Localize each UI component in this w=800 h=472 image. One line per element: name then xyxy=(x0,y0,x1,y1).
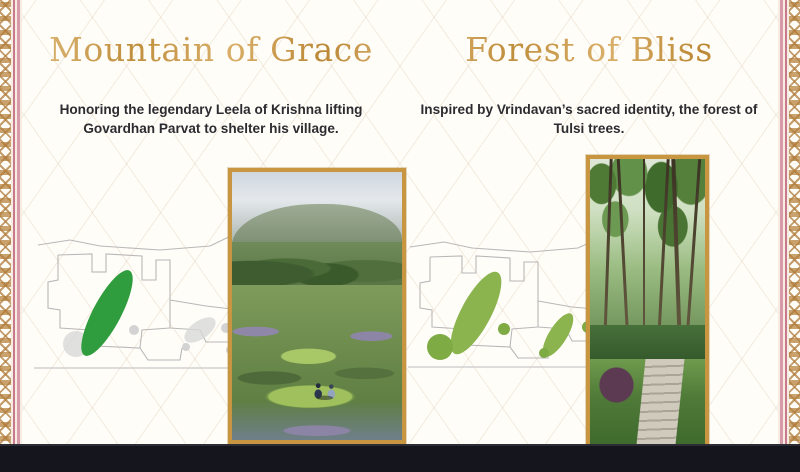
decorative-border-right xyxy=(778,0,800,472)
page-title-right: Forest of Bliss xyxy=(400,30,778,69)
photo-tulsi-forest-image xyxy=(590,159,705,445)
subtitle-left: Honoring the legendary Leela of Krishna … xyxy=(36,100,386,138)
photo-terraced-garden xyxy=(228,168,406,444)
photo-terraced-garden-image xyxy=(232,172,402,440)
photo-tulsi-forest-path xyxy=(586,155,709,449)
subtitle-right: Inspired by Vrindavan’s sacred identity,… xyxy=(414,100,764,138)
panel-mountain-of-grace: Mountain of Grace Honoring the legendary… xyxy=(22,0,400,446)
decorative-border-left xyxy=(0,0,22,472)
page-title-left: Mountain of Grace xyxy=(22,30,400,69)
panel-forest-of-bliss: Forest of Bliss Inspired by Vrindavan’s … xyxy=(400,0,778,446)
slide-canvas: Mountain of Grace Honoring the legendary… xyxy=(0,0,800,472)
bottom-bar xyxy=(0,446,800,472)
people-figures xyxy=(307,376,344,403)
